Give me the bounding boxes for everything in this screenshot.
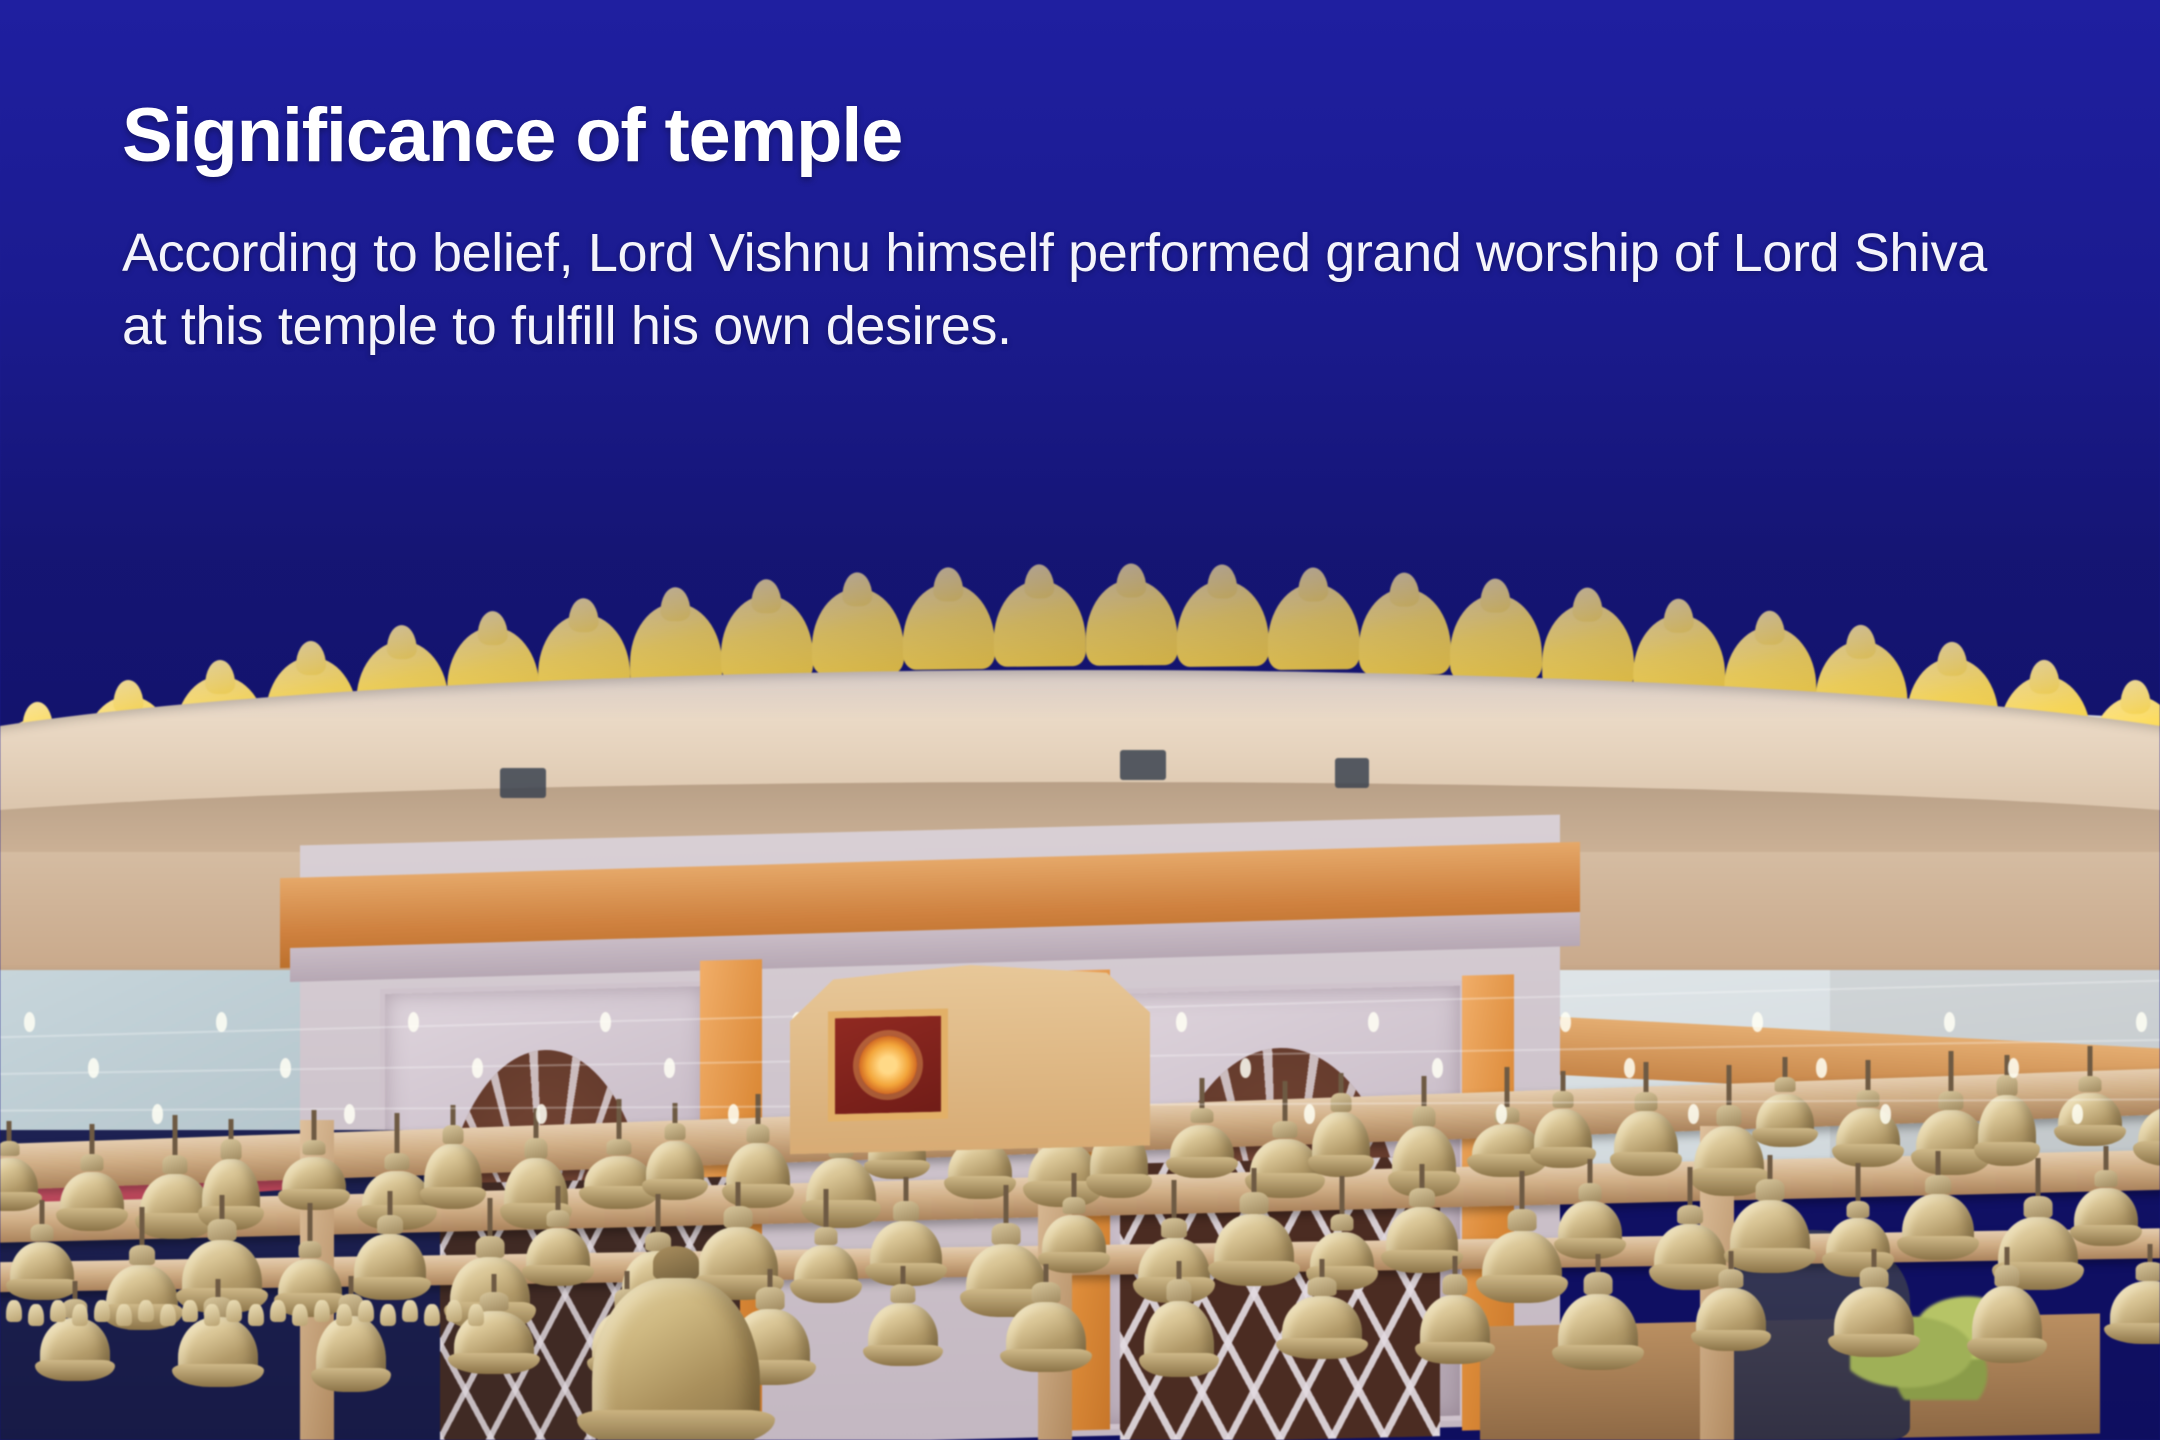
string-light-bulb <box>344 1104 355 1124</box>
string-light-bulb <box>24 1012 35 1032</box>
bell-crown <box>1272 1121 1297 1138</box>
bell-crown <box>302 1140 325 1156</box>
brass-temple-bell <box>868 1266 938 1362</box>
bell-crown <box>30 1224 53 1241</box>
brass-temple-bell <box>526 1186 590 1282</box>
brass-temple-bell <box>2138 1049 2160 1162</box>
string-light-bulb <box>88 1058 99 1078</box>
bell-crown <box>480 1292 509 1311</box>
bell-crown <box>1994 1265 2019 1288</box>
bell-crown <box>1775 1077 1796 1093</box>
brass-temple-bell <box>2058 1046 2122 1142</box>
bell-crown <box>1442 1274 1467 1295</box>
parapet-vent <box>1335 758 1369 788</box>
small-bell <box>292 1304 308 1326</box>
bell-crown <box>1846 1201 1869 1218</box>
small-bell <box>270 1300 286 1322</box>
bell-crown <box>2078 1076 2101 1092</box>
brass-temple-bell <box>424 1105 482 1205</box>
bell-crown <box>80 1154 103 1171</box>
bell-crown <box>1718 1269 1743 1288</box>
brass-temple-bell <box>0 1121 38 1207</box>
bell-crown <box>2094 1170 2117 1187</box>
string-light-bulb <box>1688 1104 1699 1124</box>
brass-temple-bell <box>1386 1164 1458 1269</box>
bell-crown <box>1584 1272 1613 1295</box>
onion-dome-finial <box>720 595 813 682</box>
string-light-bulb <box>280 1058 291 1078</box>
brass-temple-bell <box>2110 1244 2160 1340</box>
brass-temple-bell <box>1144 1261 1214 1373</box>
brass-temple-bell <box>1006 1264 1086 1368</box>
small-bell <box>6 1300 22 1322</box>
small-bell <box>160 1304 176 1326</box>
slide-root: Significance of temple According to beli… <box>0 0 2160 1440</box>
brass-temple-bell <box>1534 1071 1592 1164</box>
string-light-bulb <box>1368 1012 1379 1032</box>
brass-temple-bell <box>646 1103 704 1196</box>
string-light-bulb <box>1240 1058 1251 1078</box>
small-bell <box>50 1300 66 1322</box>
bell-lip <box>577 1410 775 1440</box>
small-bell <box>226 1300 242 1322</box>
small-bell <box>468 1304 484 1326</box>
large-brass-bell <box>592 1268 760 1440</box>
brass-temple-bell <box>1042 1173 1106 1269</box>
string-light-bulb <box>2008 1058 2019 1078</box>
bell-crown <box>665 1123 686 1140</box>
small-bell <box>28 1304 44 1326</box>
string-light-bulb <box>1752 1012 1763 1032</box>
string-light-bulb <box>1432 1058 1443 1078</box>
brass-temple-bell <box>1972 1247 2042 1359</box>
bell-crown <box>162 1155 187 1174</box>
parapet-vent <box>500 768 546 798</box>
brass-temple-bell <box>40 1281 110 1377</box>
bell-crown <box>524 1138 547 1159</box>
onion-dome-finial <box>1358 588 1451 675</box>
string-light-bulb <box>1944 1012 1955 1032</box>
bell-crown <box>129 1245 155 1265</box>
small-bell <box>446 1300 462 1322</box>
brass-temple-bell <box>1558 1254 1638 1366</box>
string-light-bulb <box>1304 1104 1315 1124</box>
bell-crown <box>1308 1277 1337 1296</box>
string-light-bulb <box>1880 1104 1891 1124</box>
brass-temple-bell <box>1282 1259 1362 1355</box>
bell-crown <box>890 1284 915 1303</box>
scalloped-parapet <box>0 600 2160 820</box>
brass-temple-bell <box>1902 1151 1974 1256</box>
small-bell <box>248 1304 264 1326</box>
brass-temple-bell <box>1170 1078 1234 1174</box>
bell-crown <box>893 1201 919 1221</box>
brass-temple-bell <box>1614 1062 1678 1172</box>
bell-crown <box>606 1139 631 1155</box>
bell-crown <box>1161 1218 1187 1238</box>
bell-lip <box>1476 1275 1567 1303</box>
small-bell <box>336 1304 352 1326</box>
string-light-bulb <box>1624 1058 1635 1078</box>
bell-crown <box>476 1236 505 1258</box>
onion-dome-finial <box>1541 603 1634 690</box>
bell-crown <box>1756 1179 1785 1201</box>
bell-crown <box>2024 1196 2053 1218</box>
bell-crown <box>1032 1282 1061 1303</box>
string-light-bulb <box>600 1012 611 1032</box>
bell-crown <box>1409 1188 1435 1208</box>
bell-crown <box>208 1219 237 1241</box>
bell-crown <box>1190 1108 1213 1124</box>
small-bell <box>182 1300 198 1322</box>
text-block: Significance of temple According to beli… <box>122 96 2082 364</box>
bell-crown <box>1860 1267 1889 1288</box>
bell-crown <box>1062 1197 1085 1214</box>
small-bell <box>116 1304 132 1326</box>
bell-crown <box>1412 1106 1435 1127</box>
string-light-bulb <box>1496 1104 1507 1124</box>
small-bell <box>424 1304 440 1326</box>
string-light-bulb <box>664 1058 675 1078</box>
string-light-bulb <box>1816 1058 1827 1078</box>
brass-temple-bell <box>178 1279 258 1383</box>
parapet-vent <box>1120 750 1166 780</box>
string-light-bulb <box>728 1104 739 1124</box>
bell-crown <box>724 1206 753 1228</box>
string-light-bulb <box>2136 1012 2147 1032</box>
bell-crown <box>992 1223 1021 1245</box>
string-light-bulb <box>216 1012 227 1032</box>
bell-crown <box>1330 1214 1353 1231</box>
brass-temple-bell <box>2074 1146 2138 1242</box>
bell-crown <box>1578 1183 1601 1200</box>
bell-crown <box>0 1141 19 1157</box>
bell-crown <box>1677 1205 1703 1225</box>
brass-temple-bell <box>1978 1055 2036 1162</box>
bell-crown <box>1553 1091 1574 1108</box>
brass-temple-bell <box>1696 1251 1766 1347</box>
string-light-bulb <box>152 1104 163 1124</box>
bell-crown <box>1166 1279 1191 1302</box>
small-bell <box>314 1300 330 1322</box>
brass-temple-bell <box>454 1274 534 1370</box>
small-bell <box>72 1304 88 1326</box>
bell-crown <box>221 1139 242 1160</box>
bell-crown <box>546 1210 569 1227</box>
bell-crown <box>1925 1175 1951 1195</box>
brass-temple-bell <box>1420 1256 1490 1360</box>
sun-motif-plaque <box>828 1009 948 1122</box>
bell-crown <box>298 1241 321 1258</box>
bell-crown <box>1856 1090 1879 1107</box>
bell-crown <box>1240 1192 1269 1214</box>
small-bell <box>94 1300 110 1322</box>
onion-dome-finial <box>1450 595 1543 682</box>
bell-crown <box>1508 1209 1537 1231</box>
bell-crown <box>2136 1262 2160 1281</box>
bell-crown <box>377 1215 403 1235</box>
string-light-bulb <box>1176 1012 1187 1032</box>
bell-crown <box>1716 1105 1741 1126</box>
small-bell <box>402 1300 418 1322</box>
brass-temple-bell <box>1558 1159 1622 1255</box>
bell-crown <box>814 1227 837 1244</box>
brass-temple-bell <box>316 1276 386 1388</box>
brass-temple-bell <box>1834 1249 1914 1353</box>
string-light-bulb <box>2072 1104 2083 1124</box>
page-body-text: According to belief, Lord Vishnu himself… <box>122 217 1992 364</box>
small-bell <box>204 1304 220 1326</box>
small-bell <box>138 1300 154 1322</box>
brass-temple-bell <box>282 1110 346 1206</box>
string-light-bulb <box>536 1104 547 1124</box>
brass-temple-bell <box>1312 1073 1370 1173</box>
bell-crown <box>746 1124 769 1143</box>
string-light-bulb <box>1560 1012 1571 1032</box>
brass-temple-bell <box>1482 1171 1562 1299</box>
bell-crown <box>384 1153 409 1170</box>
string-light-bulb <box>408 1012 419 1032</box>
small-bell <box>380 1304 396 1326</box>
page-title: Significance of temple <box>122 96 2082 175</box>
onion-dome-finial <box>811 588 904 675</box>
small-bell <box>358 1300 374 1322</box>
string-light-bulb <box>472 1058 483 1078</box>
bell-crown <box>443 1125 464 1144</box>
bell-crown <box>653 1246 699 1280</box>
